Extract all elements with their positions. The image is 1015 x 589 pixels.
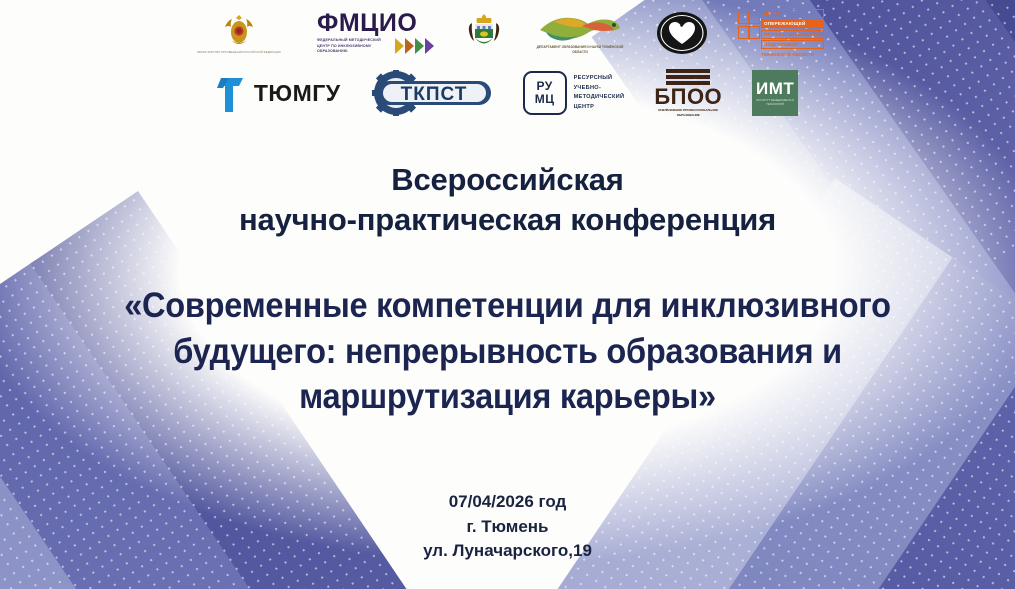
logo-bpoo-caption: ИНКЛЮЗИВНОЕ ПРОФЕССИОНАЛЬНОЕ ОБРАЗОВАНИЕ — [656, 108, 720, 117]
logo-row-top: МИНИСТЕРСТВО ПРОСВЕЩЕНИЯ РОССИЙСКОЙ ФЕДЕ… — [0, 0, 1015, 64]
tyumgu-mark-icon — [217, 72, 247, 114]
logo-emblem-rf-caption: МИНИСТЕРСТВО ПРОСВЕЩЕНИЯ РОССИЙСКОЙ ФЕДЕ… — [191, 51, 287, 55]
logo-heart-emblem — [656, 11, 708, 55]
copp-line-2: ОПЕРЕЖАЮЩЕЙ — [761, 19, 824, 28]
rumc-sub-line-4: ЦЕНТР — [574, 103, 625, 113]
bird-map-icon — [536, 12, 624, 44]
event-details: 07/04/2026 год г. Тюмень ул. Луначарског… — [0, 490, 1015, 564]
bpoo-bars-icon — [666, 69, 710, 85]
title-line-3: маршрутизация карьеры» — [73, 374, 943, 420]
conference-title: «Современные компетенции для инклюзивног… — [36, 283, 980, 420]
logo-rumc-caption: РЕСУРСНЫЙ УЧЕБНО- МЕТОДИЧЕСКИЙ ЦЕНТР — [574, 74, 625, 112]
logo-bpoo: БПОО ИНКЛЮЗИВНОЕ ПРОФЕССИОНАЛЬНОЕ ОБРАЗО… — [654, 69, 722, 117]
event-city: г. Тюмень — [0, 515, 1015, 540]
rumc-mark-bottom: МЦ — [535, 93, 555, 106]
rumc-sub-line-3: МЕТОДИЧЕСКИЙ — [574, 93, 625, 103]
logo-fmcio-caption: ФЕДЕРАЛЬНЫЙ МЕТОДИЧЕСКИЙ ЦЕНТР ПО ИНКЛЮЗ… — [317, 38, 389, 54]
double-headed-eagle-icon — [222, 12, 256, 50]
logo-rumc: РУ МЦ РЕСУРСНЫЙ УЧЕБНО- МЕТОДИЧЕСКИЙ ЦЕН… — [523, 71, 625, 115]
event-address: ул. Луначарского,19 — [0, 539, 1015, 564]
logo-imt-caption: ИНСТИТУТ МЕНЕДЖМЕНТА И ТЕХНОЛОГИЙ — [755, 99, 795, 106]
svg-text:ТКПСТ: ТКПСТ — [400, 84, 467, 105]
logo-bpoo-wordmark: БПОО — [654, 86, 722, 108]
logo-imt: ИМТ ИНСТИТУТ МЕНЕДЖМЕНТА И ТЕХНОЛОГИЙ — [752, 70, 798, 116]
logo-tyumgu-wordmark: ТЮМГУ — [254, 80, 341, 107]
logo-tkpst: ТКПСТ — [371, 70, 493, 116]
title-line-2: будущего: непрерывность образования и — [73, 329, 943, 375]
tkpst-gear-icon: ТКПСТ — [371, 70, 493, 116]
presentation-slide: МИНИСТЕРСТВО ПРОСВЕЩЕНИЯ РОССИЙСКОЙ ФЕДЕ… — [0, 0, 1015, 589]
logo-copp: ЦЕНТР ОПЕРЕЖАЮЩЕЙ ПРОФЕССИОНАЛЬНОЙ ПОДГО… — [738, 9, 824, 58]
logo-fmcio-wordmark: ФМЦИО — [317, 11, 417, 36]
copp-line-4: ПОДГОТОВКИ — [761, 40, 824, 49]
event-date: 07/04/2026 год — [0, 490, 1015, 515]
logo-row-bottom: ТЮМГУ — [0, 64, 1015, 122]
logo-dept-caption: ДЕПАРТАМЕНТ ОБРАЗОВАНИЯ И НАУКИ ТЮМЕНСКО… — [534, 45, 626, 54]
logo-fmcio: ФМЦИО ФЕДЕРАЛЬНЫЙ МЕТОДИЧЕСКИЙ ЦЕНТР ПО … — [317, 11, 434, 54]
title-line-1: «Современные компетенции для инклюзивног… — [73, 283, 943, 329]
imt-mark-icon: ИМТ ИНСТИТУТ МЕНЕДЖМЕНТА И ТЕХНОЛОГИЙ — [752, 70, 798, 116]
copp-line-5: ТЮМЕНСКОЙ ОБЛАСТИ — [761, 51, 824, 58]
rumc-sub-line-2: УЧЕБНО- — [574, 84, 625, 94]
rumc-mark-icon: РУ МЦ — [523, 71, 567, 115]
heading-line-1: Всероссийская — [0, 160, 1015, 200]
tyumen-coat-of-arms-icon — [464, 12, 504, 54]
copp-line-1: ЦЕНТР — [761, 9, 824, 18]
heading-line-2: научно-практическая конференция — [0, 200, 1015, 240]
copp-line-3: ПРОФЕССИОНАЛЬНОЙ — [761, 30, 824, 39]
conference-heading: Всероссийская научно-практическая конфер… — [0, 160, 1015, 239]
logo-dept-obrazovaniya: ДЕПАРТАМЕНТ ОБРАЗОВАНИЯ И НАУКИ ТЮМЕНСКО… — [534, 12, 626, 54]
logo-emblem-rf: МИНИСТЕРСТВО ПРОСВЕЩЕНИЯ РОССИЙСКОЙ ФЕДЕ… — [191, 12, 287, 55]
chevrons-icon — [395, 38, 434, 54]
copp-grid-icon — [738, 11, 758, 39]
logo-imt-wordmark: ИМТ — [756, 80, 794, 97]
logo-tyumgu: ТЮМГУ — [217, 72, 341, 114]
rumc-sub-line-1: РЕСУРСНЫЙ — [574, 74, 625, 84]
heart-emblem-icon — [656, 11, 708, 55]
logo-strip: МИНИСТЕРСТВО ПРОСВЕЩЕНИЯ РОССИЙСКОЙ ФЕДЕ… — [0, 0, 1015, 122]
logo-tyumen-coat — [464, 12, 504, 54]
